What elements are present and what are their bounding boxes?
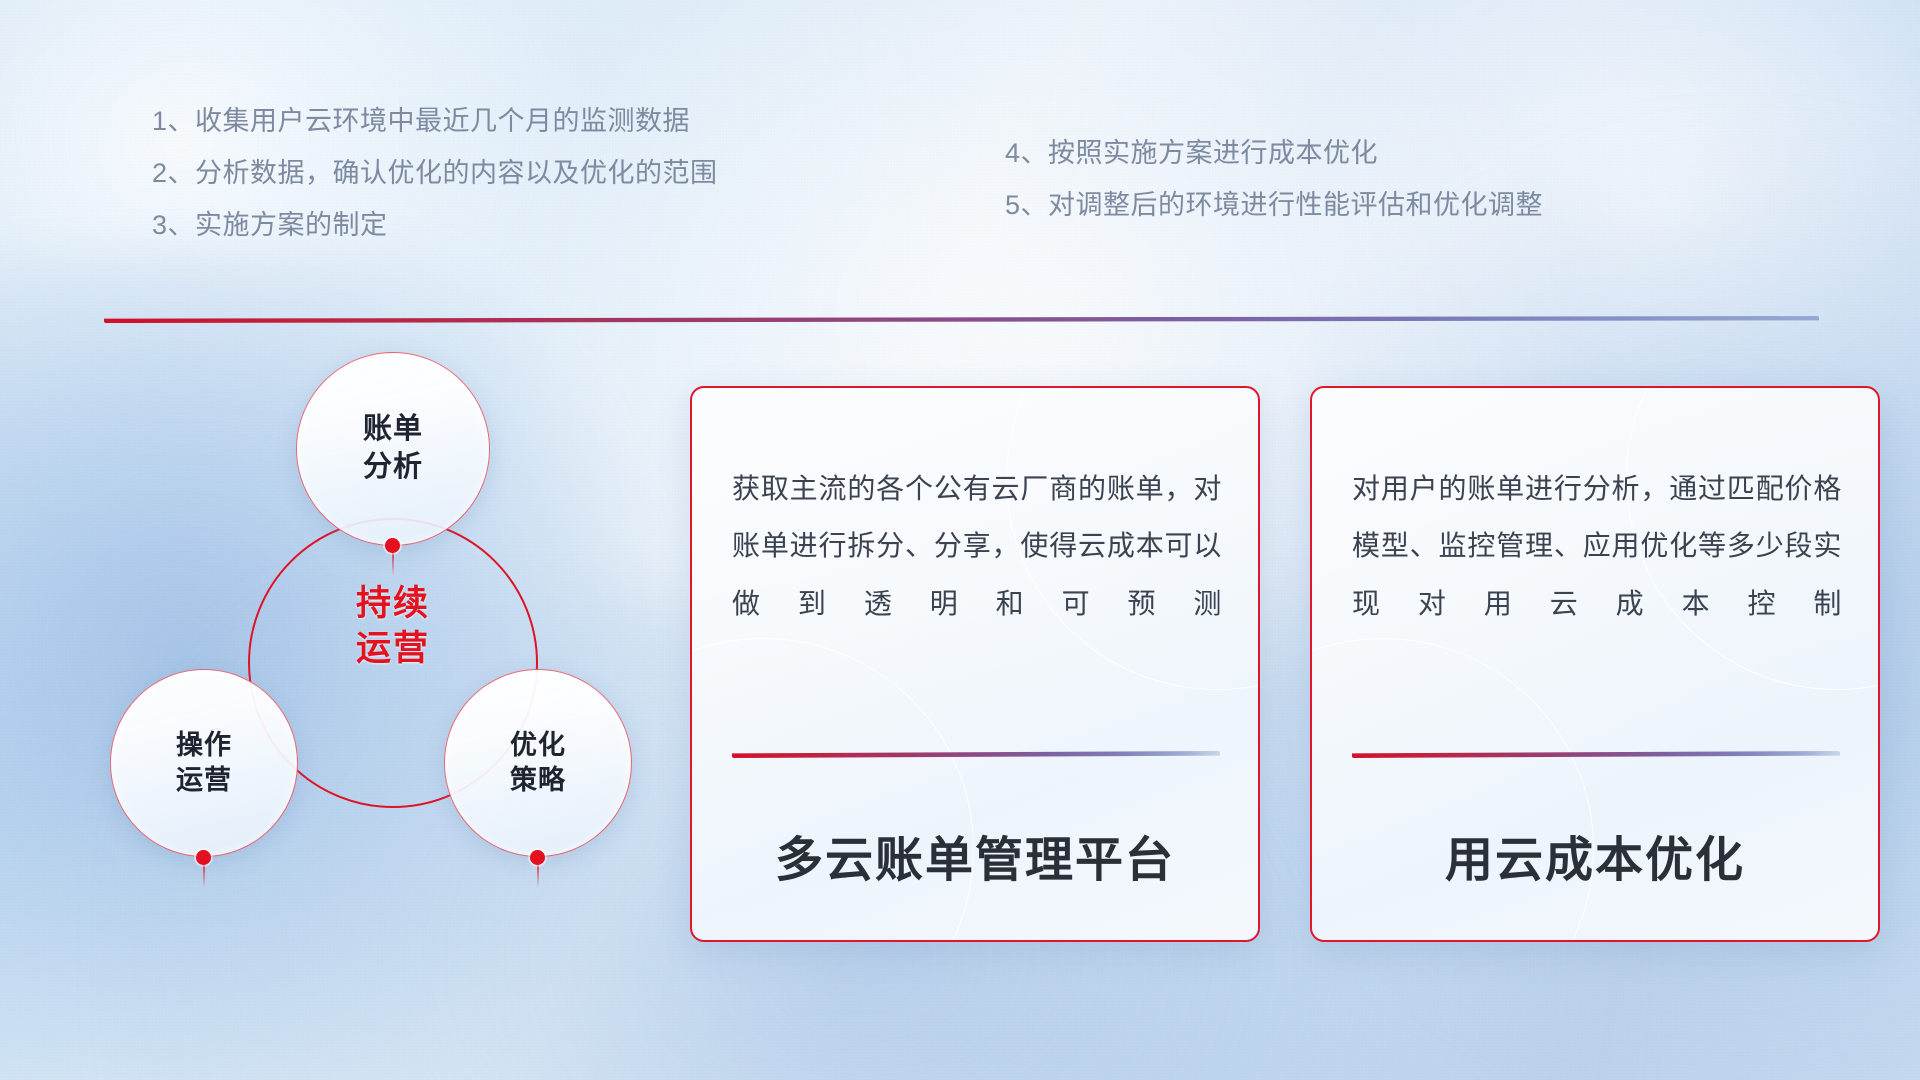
diagram-dot-bottom-left xyxy=(196,850,211,865)
step-item-1: 1、收集用户云环境中最近几个月的监测数据 xyxy=(152,108,718,135)
diagram-center-label-line2: 运营 xyxy=(248,627,538,672)
node-bill-analysis-line2: 分析 xyxy=(363,449,423,487)
step-item-4: 4、按照实施方案进行成本优化 xyxy=(1005,140,1543,167)
diagram-dot-top xyxy=(385,538,400,553)
node-ops-operation-line1: 操作 xyxy=(176,728,232,763)
steps-list-left: 1、收集用户云环境中最近几个月的监测数据 2、分析数据，确认优化的内容以及优化的… xyxy=(152,108,718,239)
card-2-body: 对用户的账单进行分析，通过匹配价格模型、监控管理、应用优化等多少段实现对用云成本… xyxy=(1352,460,1842,632)
diagram-node-bill-analysis[interactable]: 账单 分析 xyxy=(296,352,490,546)
node-bill-analysis-line1: 账单 xyxy=(363,411,423,449)
node-optimize-policy-line1: 优化 xyxy=(510,728,566,763)
step-item-3: 3、实施方案的制定 xyxy=(152,212,718,239)
card-2-divider xyxy=(1352,751,1840,758)
steps-list-right: 4、按照实施方案进行成本优化 5、对调整后的环境进行性能评估和优化调整 xyxy=(1005,140,1543,219)
card-multi-cloud-billing-platform[interactable]: 获取主流的各个公有云厂商的账单，对账单进行拆分、分享，使得云成本可以做到透明和可… xyxy=(690,386,1260,942)
diagram-node-optimize-policy[interactable]: 优化 策略 xyxy=(444,669,632,857)
diagram-node-ops-operation[interactable]: 操作 运营 xyxy=(110,669,298,857)
card-1-body: 获取主流的各个公有云厂商的账单，对账单进行拆分、分享，使得云成本可以做到透明和可… xyxy=(732,460,1222,632)
diagram-center-label: 持续 运营 xyxy=(248,582,538,672)
node-optimize-policy-line2: 策略 xyxy=(510,763,566,798)
card-1-divider xyxy=(732,751,1220,758)
step-item-2: 2、分析数据，确认优化的内容以及优化的范围 xyxy=(152,160,718,187)
card-decor-arc-left-2 xyxy=(1310,638,1594,942)
card-cloud-cost-optimization[interactable]: 对用户的账单进行分析，通过匹配价格模型、监控管理、应用优化等多少段实现对用云成本… xyxy=(1310,386,1880,942)
slide-canvas: 1、收集用户云环境中最近几个月的监测数据 2、分析数据，确认优化的内容以及优化的… xyxy=(0,0,1920,1080)
card-1-title: 多云账单管理平台 xyxy=(692,820,1258,890)
card-2-title: 用云成本优化 xyxy=(1312,820,1878,890)
step-item-5: 5、对调整后的环境进行性能评估和优化调整 xyxy=(1005,192,1543,219)
card-decor-arc-left xyxy=(690,638,974,942)
continuous-operation-diagram: 持续 运营 账单 分析 操作 运营 优化 策略 xyxy=(96,352,656,952)
diagram-connector-bottom-left xyxy=(203,862,205,888)
diagram-connector-top xyxy=(392,550,394,576)
diagram-center-label-line1: 持续 xyxy=(248,582,538,627)
node-ops-operation-line2: 运营 xyxy=(176,763,232,798)
diagram-dot-bottom-right xyxy=(530,850,545,865)
diagram-connector-bottom-right xyxy=(537,862,539,888)
